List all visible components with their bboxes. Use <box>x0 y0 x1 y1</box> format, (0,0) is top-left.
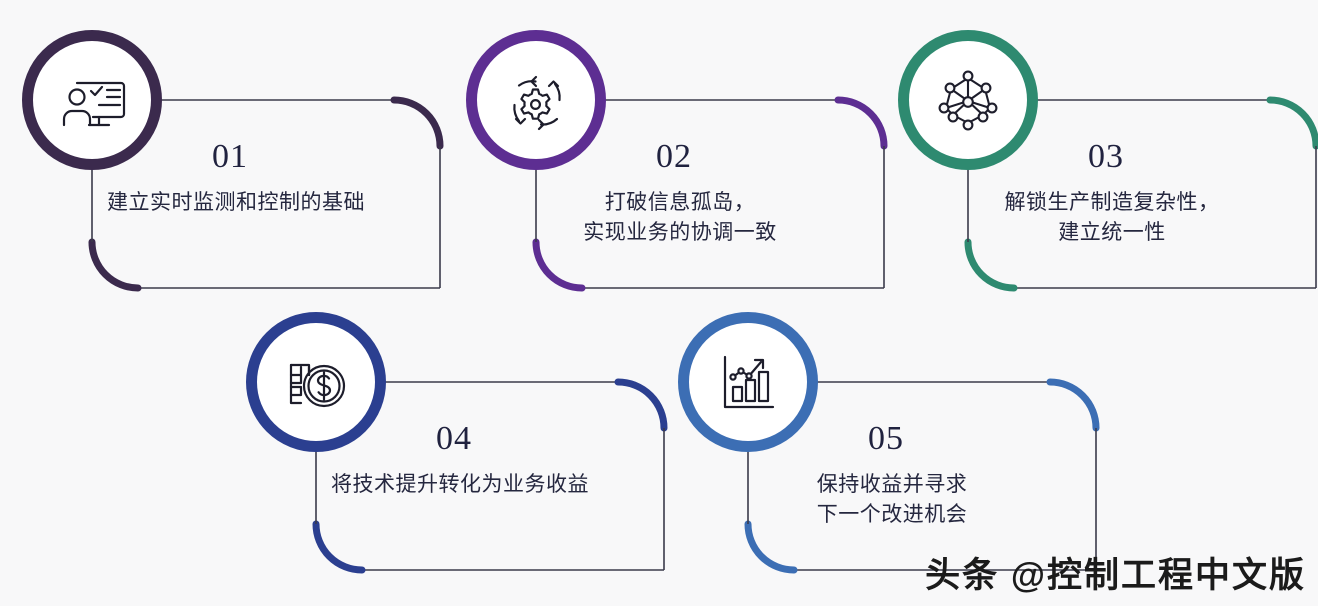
network-nodes-icon <box>931 63 1005 137</box>
step-caption-03: 解锁生产制造复杂性， 建立统一性 <box>942 188 1282 248</box>
process-step-04: 04 将技术提升转化为业务收益 <box>246 312 676 602</box>
step-icon-ring-04[interactable] <box>246 312 386 452</box>
step-icon-ring-01[interactable] <box>22 30 162 170</box>
factory-dollar-icon <box>279 345 353 419</box>
process-step-02: 02 打破信息孤岛， 实现业务的协调一致 <box>466 30 896 320</box>
process-step-01: 01 建立实时监测和控制的基础 <box>22 30 452 320</box>
step-number-05: 05 <box>868 420 904 458</box>
step-caption-01: 建立实时监测和控制的基础 <box>66 188 406 218</box>
step-number-03: 03 <box>1088 138 1124 176</box>
step-icon-ring-02[interactable] <box>466 30 606 170</box>
step-number-04: 04 <box>436 420 472 458</box>
gear-refresh-cycle-icon <box>499 63 573 137</box>
step-number-01: 01 <box>212 138 248 176</box>
diagram-canvas: 01 建立实时监测和控制的基础 <box>0 0 1318 606</box>
step-number-02: 02 <box>656 138 692 176</box>
monitor-person-checklist-icon <box>55 63 129 137</box>
step-caption-05: 保持收益并寻求 下一个改进机会 <box>722 470 1062 530</box>
process-step-03: 03 解锁生产制造复杂性， 建立统一性 <box>898 30 1318 320</box>
step-caption-04: 将技术提升转化为业务收益 <box>290 470 630 500</box>
step-icon-ring-03[interactable] <box>898 30 1038 170</box>
step-caption-02: 打破信息孤岛， 实现业务的协调一致 <box>510 188 850 248</box>
bar-chart-growth-icon <box>711 345 785 419</box>
step-icon-ring-05[interactable] <box>678 312 818 452</box>
watermark-label: 头条 @控制工程中文版 <box>925 547 1306 598</box>
